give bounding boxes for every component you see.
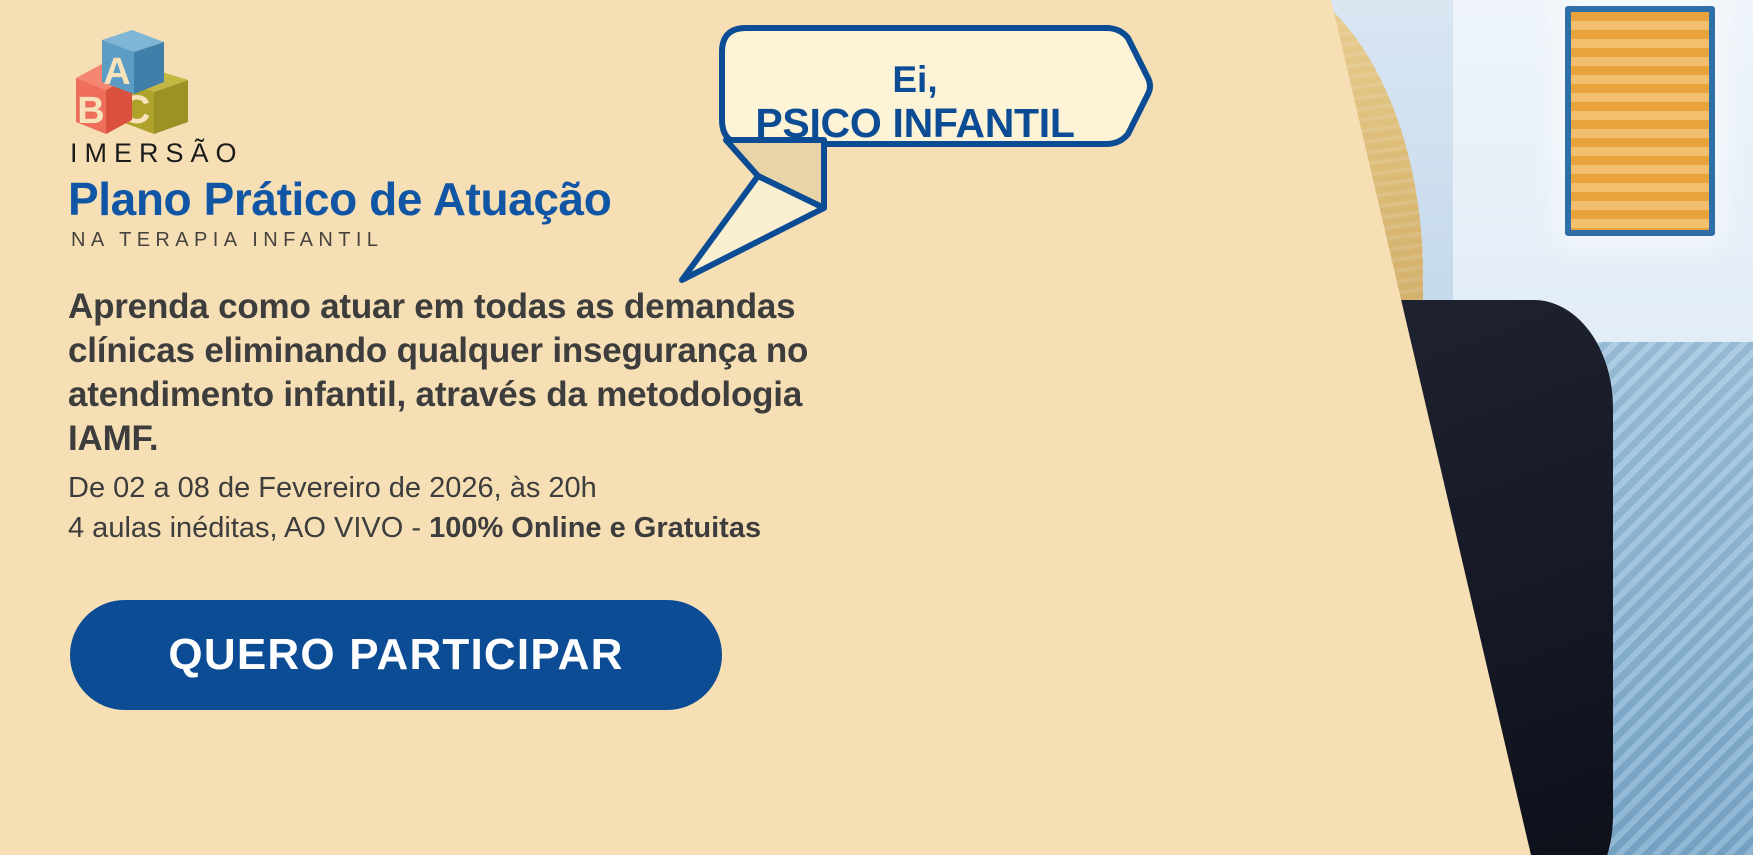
quero-participar-button[interactable]: QUERO PARTICIPAR (70, 600, 722, 710)
photo-window (1565, 6, 1715, 236)
event-format-prefix: 4 aulas inéditas, AO VIVO - (68, 512, 429, 544)
girl-finger (1078, 467, 1147, 622)
girl-finger (1175, 493, 1230, 622)
bubble-body (722, 28, 1150, 144)
girl-hair-clip (1157, 0, 1269, 87)
girl-ear (1223, 420, 1301, 516)
girl-earring (1245, 500, 1271, 526)
shirt-daisy-icon (1383, 700, 1403, 720)
girl-arm (901, 611, 1285, 855)
event-format: 4 aulas inéditas, AO VIVO - 100% Online … (68, 512, 761, 545)
abc-blocks-logo: C B A (70, 28, 190, 140)
page-title: Plano Prático de Atuação (68, 172, 611, 226)
girl-mouth (1022, 427, 1086, 459)
lead-paragraph: Aprenda como atuar em todas as demandas … (68, 285, 828, 461)
kicker-imersao: IMERSÃO (70, 138, 244, 169)
block-a-icon: A (102, 30, 164, 94)
shirt-daisy-icon (1355, 672, 1381, 698)
girl-eye (1032, 322, 1078, 342)
girl-finger (1131, 475, 1185, 627)
svg-text:B: B (77, 90, 104, 132)
girl-hand (997, 451, 1259, 759)
promo-banner: C B A IMERSÃO Plano Prático de (0, 0, 1753, 855)
girl-finger (1025, 475, 1111, 632)
girl-nose (1009, 372, 1035, 406)
speech-bubble: Ei, PSICO INFANTIL (700, 18, 1150, 308)
event-format-highlight: 100% Online e Gratuitas (429, 512, 761, 544)
event-dates: De 02 a 08 de Fevereiro de 2026, às 20h (68, 472, 597, 505)
page-subtitle: NA TERAPIA INFANTIL (71, 229, 383, 252)
svg-text:A: A (103, 51, 130, 93)
girl-shirt (1253, 300, 1613, 855)
